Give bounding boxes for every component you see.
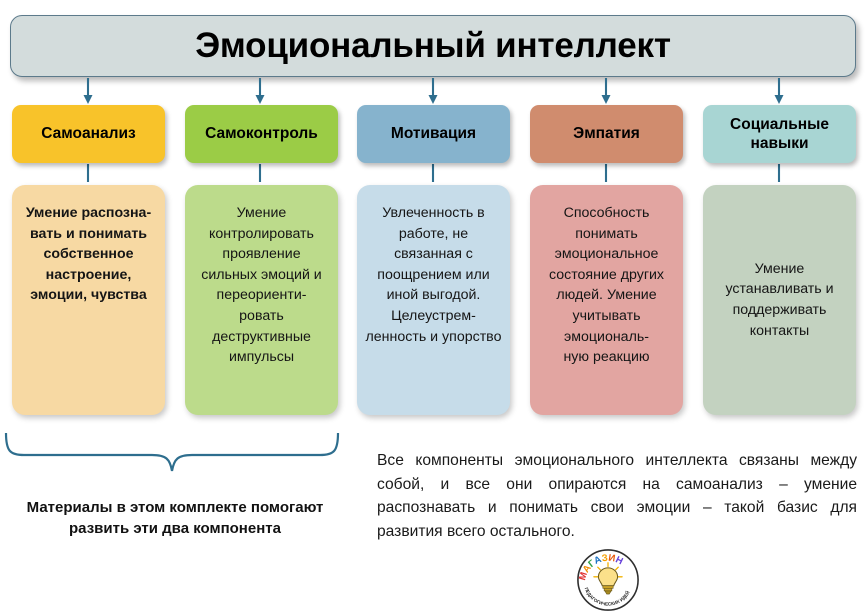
column-body-text: Способность понимать эмоциональное состо…	[538, 203, 675, 368]
column-header-label: Самоанализ	[41, 124, 135, 143]
page-title-banner: Эмоциональный интеллект	[10, 15, 856, 77]
arrow-head-5	[775, 95, 784, 104]
column-body-text: Умение устанавливать и поддерживать конт…	[711, 259, 848, 341]
column-header-social-skills[interactable]: Социальные навыки	[703, 105, 856, 163]
column-body-text: Умение распозна- вать и понимать собстве…	[20, 203, 157, 306]
arrow-head-2	[256, 95, 265, 104]
brace-bracket	[6, 433, 338, 471]
column-header-empathy[interactable]: Эмпатия	[530, 105, 683, 163]
arrow-head-4	[602, 95, 611, 104]
arrow-head-3	[429, 95, 438, 104]
column-body-text: Увлеченность в работе, не связанная с по…	[365, 203, 502, 347]
column-header-label: Мотивация	[391, 124, 476, 143]
column-header-label: Социальные навыки	[709, 115, 850, 154]
column-body-empathy: Способность понимать эмоциональное состо…	[530, 185, 683, 415]
column-body-text: Умение контролировать проявление сильных…	[193, 203, 330, 368]
brace-note-text: Материалы в этом комплекте помогают разв…	[5, 497, 345, 540]
column-body-motivation: Увлеченность в работе, не связанная с по…	[357, 185, 510, 415]
column-header-self-awareness[interactable]: Самоанализ	[12, 105, 165, 163]
page-title: Эмоциональный интеллект	[195, 26, 671, 66]
column-header-label: Самоконтроль	[205, 124, 318, 143]
store-logo: МАГАЗИН ПЕДАГОГИЧЕСКИХ ИДЕЙ	[576, 548, 640, 612]
column-body-self-awareness: Умение распозна- вать и понимать собстве…	[12, 185, 165, 415]
column-header-motivation[interactable]: Мотивация	[357, 105, 510, 163]
column-header-label: Эмпатия	[573, 124, 640, 143]
summary-paragraph: Все компоненты эмоционального интеллекта…	[377, 449, 857, 544]
column-header-self-regulation[interactable]: Самоконтроль	[185, 105, 338, 163]
column-body-social-skills: Умение устанавливать и поддерживать конт…	[703, 185, 856, 415]
column-body-self-regulation: Умение контролировать проявление сильных…	[185, 185, 338, 415]
arrow-head-1	[84, 95, 93, 104]
